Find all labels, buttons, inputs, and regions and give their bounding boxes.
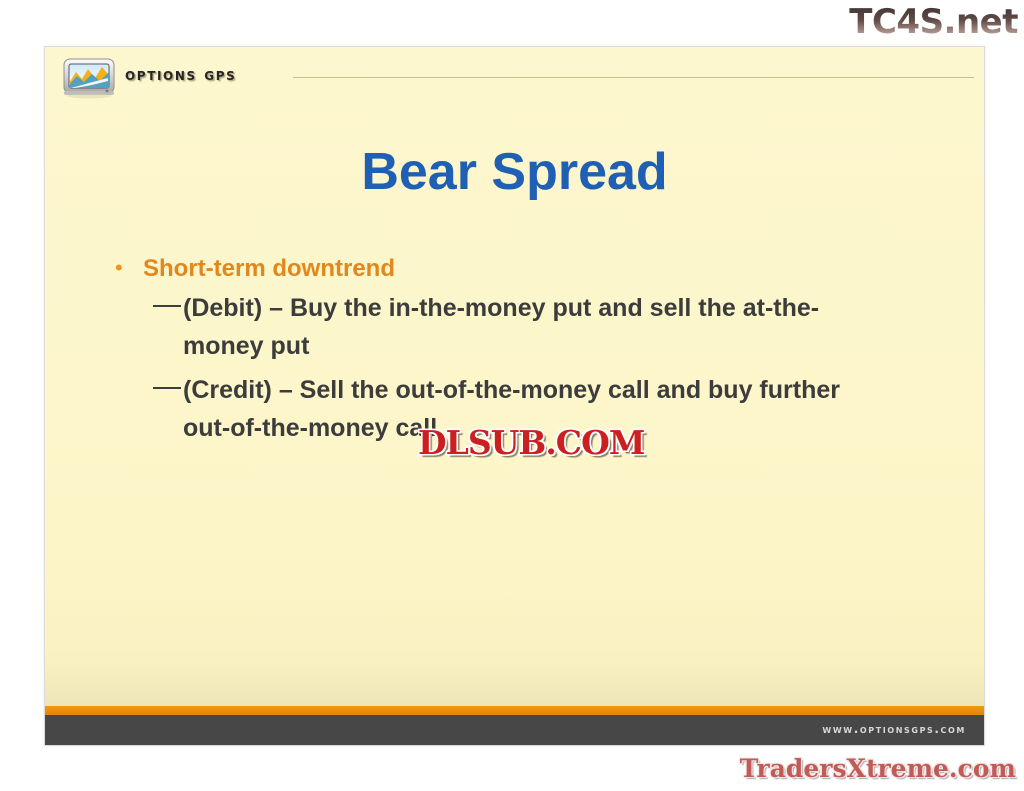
slide-footer: www.OptionsGPS.com — [45, 715, 984, 745]
presentation-slide: Options GPS Bear Spread • Short-term dow… — [44, 46, 985, 746]
footer-url-text: www.OptionsGPS.com — [822, 722, 966, 736]
dash-marker-icon — [153, 387, 183, 389]
slide-body: • Short-term downtrend (Debit) – Buy the… — [115, 255, 944, 451]
watermark-tradersxtreme: TradersXtreme.com — [740, 754, 1016, 783]
dash-marker-icon — [153, 305, 183, 307]
watermark-tc4s: TC4S.net — [849, 2, 1018, 42]
bullet-level2: (Debit) – Buy the in-the-money put and s… — [153, 289, 944, 365]
brand-wordmark: Options GPS — [125, 65, 236, 85]
header-divider — [293, 77, 974, 78]
bullet-level1-text: Short-term downtrend — [143, 255, 395, 283]
slide-header: Options GPS — [45, 47, 984, 109]
gps-device-chart-icon — [62, 57, 118, 99]
watermark-dlsub: DLSUB.COM — [418, 423, 644, 462]
footer-accent-bar — [45, 706, 984, 715]
bullet-marker-icon: • — [115, 255, 143, 281]
page-title: Bear Spread — [45, 142, 984, 202]
bullet-level2-text: (Debit) – Buy the in-the-money put and s… — [183, 289, 883, 365]
bullet-level1: • Short-term downtrend — [115, 255, 944, 283]
